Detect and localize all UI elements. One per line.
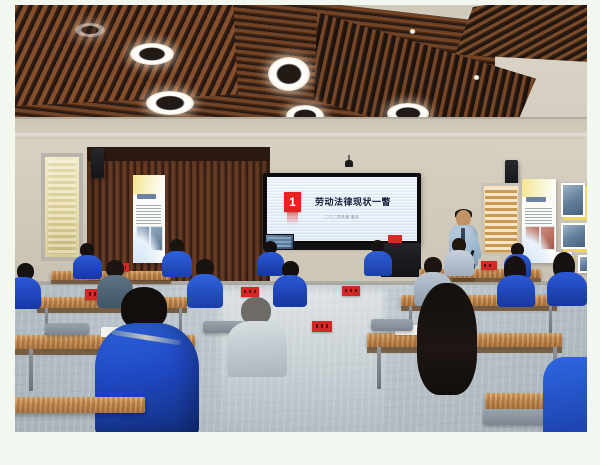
poster-curve-graphic <box>133 223 165 263</box>
person-uniform <box>15 277 41 309</box>
name-card <box>312 321 332 332</box>
person-uniform <box>257 252 284 276</box>
wall-photo-card <box>561 223 587 249</box>
photo-card-image <box>563 225 585 247</box>
slide-title: 劳动法律现状一瞥 <box>315 195 391 208</box>
ceiling-slat-wedge <box>15 5 238 107</box>
slide-content: 1 劳动法律现状一瞥 二〇二四年度 普法 <box>267 177 417 241</box>
wall-photo-card <box>578 255 587 273</box>
person-uniform <box>73 255 102 279</box>
wall-speaker-left <box>91 148 104 178</box>
slide-subtitle: 二〇二四年度 普法 <box>325 215 359 220</box>
poster-header-band <box>522 179 556 197</box>
wall-photo-card <box>561 183 585 217</box>
chair-back <box>45 323 89 335</box>
downlight <box>473 75 480 80</box>
person-uniform <box>364 251 392 276</box>
chair-back <box>371 319 413 331</box>
ceiling <box>15 5 587 153</box>
name-card <box>481 261 497 270</box>
wall-poster-left <box>133 175 165 263</box>
person-casual <box>444 250 474 276</box>
left-window-blinds <box>41 153 83 261</box>
chair-back <box>483 409 547 425</box>
person-uniform <box>273 275 307 307</box>
wall-ceiling-joint <box>15 133 587 139</box>
screenshot-canvas: 1 劳动法律现状一瞥 二〇二四年度 普法 <box>0 0 600 465</box>
poster-header-band <box>133 175 165 194</box>
person-hair <box>417 283 477 395</box>
photo-card-image <box>580 257 587 271</box>
desk-leg <box>549 306 552 336</box>
name-card <box>241 287 259 297</box>
poster-body-text <box>525 208 552 226</box>
downlight <box>409 29 416 34</box>
slide-number-reflection <box>287 212 298 225</box>
poster-title-bar <box>137 194 156 199</box>
desk-row-1-left <box>15 397 145 413</box>
ring-light <box>268 57 310 91</box>
desk-leg <box>377 347 381 389</box>
poster-title-bar <box>526 197 546 202</box>
name-card <box>342 286 360 296</box>
person-uniform <box>497 275 535 307</box>
ring-light <box>146 91 194 115</box>
poster-body-text <box>136 205 161 224</box>
person-casual <box>227 321 287 377</box>
ceiling-camera-icon <box>345 160 353 167</box>
desk-leg <box>29 349 33 391</box>
ring-light <box>75 23 105 37</box>
person-uniform <box>187 274 223 308</box>
person-uniform <box>162 251 192 277</box>
classroom-photograph: 1 劳动法律现状一瞥 二〇二四年度 普法 <box>15 5 587 432</box>
wall-poster-right-main <box>522 179 556 263</box>
person-uniform <box>543 357 587 432</box>
ring-light <box>130 43 174 65</box>
slide-number-badge: 1 <box>284 192 301 212</box>
person-uniform <box>547 272 587 306</box>
photo-card-image <box>563 185 583 215</box>
